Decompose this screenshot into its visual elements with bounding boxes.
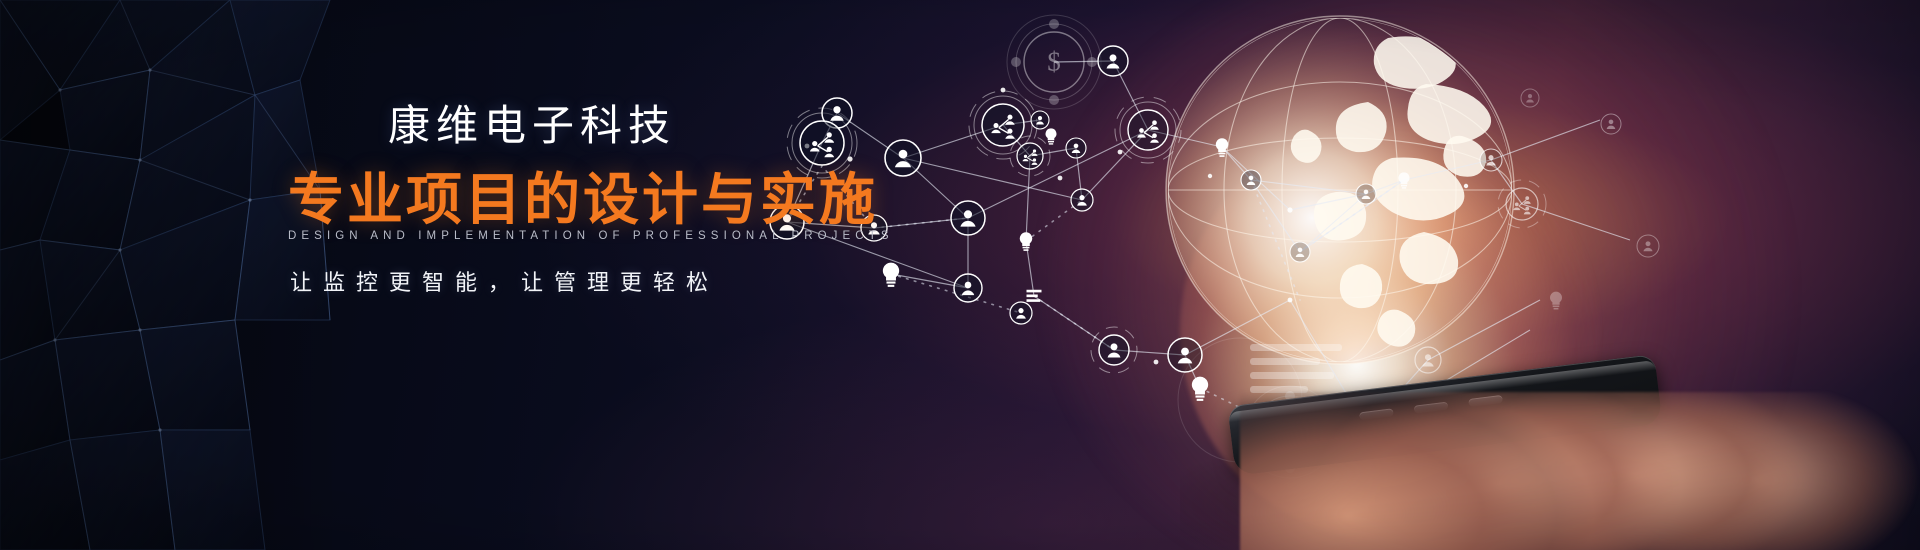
node-lightbulb [1046, 128, 1057, 144]
node-group [982, 104, 1024, 146]
node-user [954, 274, 982, 302]
node-user [1099, 335, 1129, 365]
node-user [1010, 302, 1032, 324]
node-user [1480, 149, 1502, 171]
node-user [1066, 138, 1086, 158]
node-list [1027, 290, 1042, 302]
node-user [1098, 46, 1128, 76]
node-user [1356, 184, 1376, 204]
tagline: 让监控更智能，让管理更轻松 [290, 272, 719, 294]
node-lightbulb [1020, 232, 1032, 251]
node-user [1521, 89, 1539, 107]
node-user [951, 201, 985, 235]
node-group [1128, 110, 1168, 150]
node-user [1415, 347, 1441, 373]
node-group [1506, 188, 1538, 220]
main-headline: 专业项目的设计与实施 [288, 172, 878, 228]
node-lightbulb [1192, 377, 1208, 401]
bar-widget [1250, 344, 1342, 393]
node-lightbulb [1550, 292, 1562, 310]
hand [1240, 392, 1920, 550]
node-user [1601, 114, 1621, 134]
node-group [1017, 143, 1043, 169]
node-lightbulb [883, 263, 899, 287]
node-lightbulb [1216, 138, 1228, 157]
node-lightbulb [1399, 172, 1410, 188]
node-user [1071, 189, 1093, 211]
node-user [1241, 170, 1261, 190]
headline-subtitle: DESIGN AND IMPLEMENTATION OF PROFESSIONA… [288, 231, 894, 243]
node-user [1290, 242, 1310, 262]
company-title: 康维电子科技 [388, 105, 676, 147]
headline-block: 康维电子科技 专业项目的设计与实施 DESIGN AND IMPLEMENTAT… [0, 0, 860, 550]
node-user [1637, 235, 1659, 257]
node-user [1168, 338, 1202, 372]
node-user [1031, 111, 1049, 129]
node-user [885, 140, 921, 176]
hero-banner: $ [0, 0, 1920, 550]
